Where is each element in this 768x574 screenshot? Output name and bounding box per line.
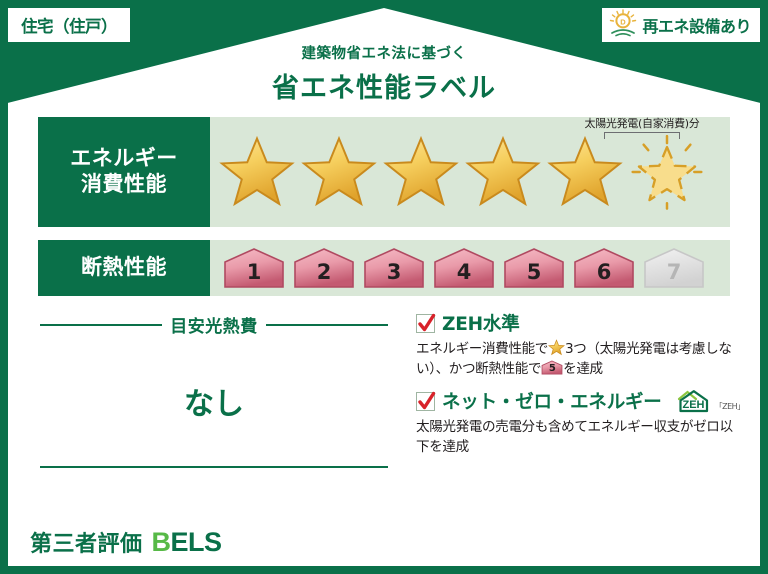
insulation-grade-value: 1 bbox=[222, 247, 286, 289]
house-icon-inline-grade-value: 5 bbox=[541, 359, 563, 376]
energy-performance-body: 太陽光発電(自家消費)分 bbox=[210, 117, 730, 227]
divider-right bbox=[266, 324, 388, 326]
dwelling-type-badge: 住宅（住戸） bbox=[8, 8, 130, 42]
divider-left bbox=[40, 324, 162, 326]
evaluation-uid: d2d578a5-5fbd-42e3 bbox=[602, 547, 752, 561]
evaluation-date: 評価日 2025年9月5日 bbox=[602, 524, 752, 545]
label-title-block: 建築物省エネ法に基づく 省エネ性能ラベル bbox=[0, 42, 768, 105]
label-footer: 第三者評価 BELS 宇部市恩田野中IV5号地 新築工事 評価日 2025年9月… bbox=[0, 512, 768, 574]
insulation-grade-value: 4 bbox=[432, 247, 496, 289]
zeh-logo-caption: 「ZEH」 bbox=[715, 401, 745, 414]
insulation-grade-strip: 1 2 3 4 bbox=[210, 247, 706, 289]
utility-cost-heading: 目安光熱費 bbox=[170, 312, 258, 337]
insulation-performance-body: 1 2 3 4 bbox=[210, 240, 730, 296]
insulation-grade-badge-5: 5 bbox=[502, 247, 566, 289]
insulation-performance-label: 断熱性能 bbox=[81, 255, 167, 281]
property-address: 宇部市恩田野中IV5号地 新築工事 bbox=[258, 533, 513, 557]
zeh-criteria-header: ネット・ゼロ・エネルギー ZEH 「ZEH」 bbox=[416, 388, 745, 414]
zeh-criteria-item-zeh-level: ZEH水準 エネルギー消費性能で3つ（太陽光発電は考慮しない）、かつ断熱性能で5… bbox=[416, 310, 745, 379]
star-icon-filled-5 bbox=[546, 133, 624, 211]
third-party-evaluation-label: 第三者評価 bbox=[30, 526, 143, 558]
solar-annotation-caption: 太陽光発電(自家消費)分 bbox=[558, 115, 726, 131]
zeh-logo: ZEH 「ZEH」 bbox=[673, 388, 745, 414]
dwelling-type-label: 住宅（住戸） bbox=[21, 13, 117, 37]
energy-performance-label: 住宅（住戸） D 再エネ設備あり 建築物省 bbox=[0, 0, 768, 574]
zeh-criteria-title: ZEH水準 bbox=[442, 310, 520, 336]
insulation-grade-badge-7: 7 bbox=[642, 247, 706, 289]
zeh-criteria-panel: ZEH水準 エネルギー消費性能で3つ（太陽光発電は考慮しない）、かつ断熱性能で5… bbox=[390, 308, 745, 504]
insulation-grade-badge-6: 6 bbox=[572, 247, 636, 289]
title-subtitle: 建築物省エネ法に基づく bbox=[0, 42, 768, 63]
insulation-grade-badge-3: 3 bbox=[362, 247, 426, 289]
utility-cost-heading-row: 目安光熱費 bbox=[38, 312, 390, 337]
svg-text:ZEH: ZEH bbox=[682, 399, 704, 411]
insulation-grade-value: 2 bbox=[292, 247, 356, 289]
energy-performance-label-block: エネルギー 消費性能 bbox=[38, 117, 210, 227]
utility-cost-value: なし bbox=[38, 379, 390, 423]
house-icon-inline-grade: 5 bbox=[541, 359, 563, 376]
bels-certification-plate: 第三者評価 BELS bbox=[18, 522, 234, 562]
zeh-criteria-description: 太陽光発電の売電分も含めてエネルギー収支がゼロ以下を達成 bbox=[416, 417, 745, 457]
star-icon-filled-3 bbox=[382, 133, 460, 211]
star-icon-filled-4 bbox=[464, 133, 542, 211]
insulation-grade-badge-4: 4 bbox=[432, 247, 496, 289]
star-icon-solar-6 bbox=[628, 133, 706, 211]
renewable-equipment-label: 再エネ設備あり bbox=[642, 13, 751, 37]
insulation-grade-value: 5 bbox=[502, 247, 566, 289]
energy-performance-label-line1: エネルギー bbox=[70, 146, 178, 172]
star-icon-filled-1 bbox=[218, 133, 296, 211]
checkmark-icon-checked bbox=[416, 392, 435, 411]
bels-logo: BELS bbox=[152, 527, 222, 558]
insulation-performance-row: 断熱性能 bbox=[38, 240, 730, 296]
energy-performance-row: エネルギー 消費性能 bbox=[38, 117, 730, 227]
zeh-desc-part3: を達成 bbox=[563, 361, 603, 377]
insulation-performance-label-block: 断熱性能 bbox=[38, 240, 210, 296]
bels-logo-part2: ELS bbox=[171, 527, 222, 557]
title-main: 省エネ性能ラベル bbox=[0, 66, 768, 105]
energy-performance-label-line2: 消費性能 bbox=[81, 172, 167, 198]
star-rating-strip bbox=[210, 133, 706, 211]
star-icon-inline bbox=[548, 339, 565, 356]
insulation-grade-badge-2: 2 bbox=[292, 247, 356, 289]
zeh-criteria-header: ZEH水準 bbox=[416, 310, 745, 336]
renewable-equipment-badge: D 再エネ設備あり bbox=[602, 8, 760, 42]
utility-cost-panel: 目安光熱費 なし bbox=[38, 308, 390, 504]
insulation-grade-value: 6 bbox=[572, 247, 636, 289]
evaluation-meta: 評価日 2025年9月5日 d2d578a5-5fbd-42e3 bbox=[602, 524, 752, 561]
solar-sun-icon: D bbox=[608, 9, 638, 41]
insulation-grade-value: 3 bbox=[362, 247, 426, 289]
utility-cost-bottom-rule bbox=[40, 466, 388, 468]
insulation-grade-value: 7 bbox=[642, 247, 706, 289]
insulation-grade-badge-1: 1 bbox=[222, 247, 286, 289]
zeh-criteria-item-net-zero: ネット・ゼロ・エネルギー ZEH 「ZEH」 太陽光発電の売電分も含めてエネルギ… bbox=[416, 388, 745, 457]
zeh-criteria-description: エネルギー消費性能で3つ（太陽光発電は考慮しない）、かつ断熱性能で5を達成 bbox=[416, 339, 745, 379]
zeh-criteria-title: ネット・ゼロ・エネルギー bbox=[442, 388, 662, 414]
star-icon-filled-2 bbox=[300, 133, 378, 211]
bels-logo-part1: B bbox=[152, 527, 171, 557]
checkmark-icon-checked bbox=[416, 314, 435, 333]
bottom-section: 目安光熱費 なし ZEH水準 エネルギー消費性能で3つ（太陽光発電は考慮しない）… bbox=[38, 308, 730, 504]
svg-text:D: D bbox=[621, 17, 627, 26]
zeh-desc-part1: エネルギー消費性能で bbox=[416, 341, 548, 357]
